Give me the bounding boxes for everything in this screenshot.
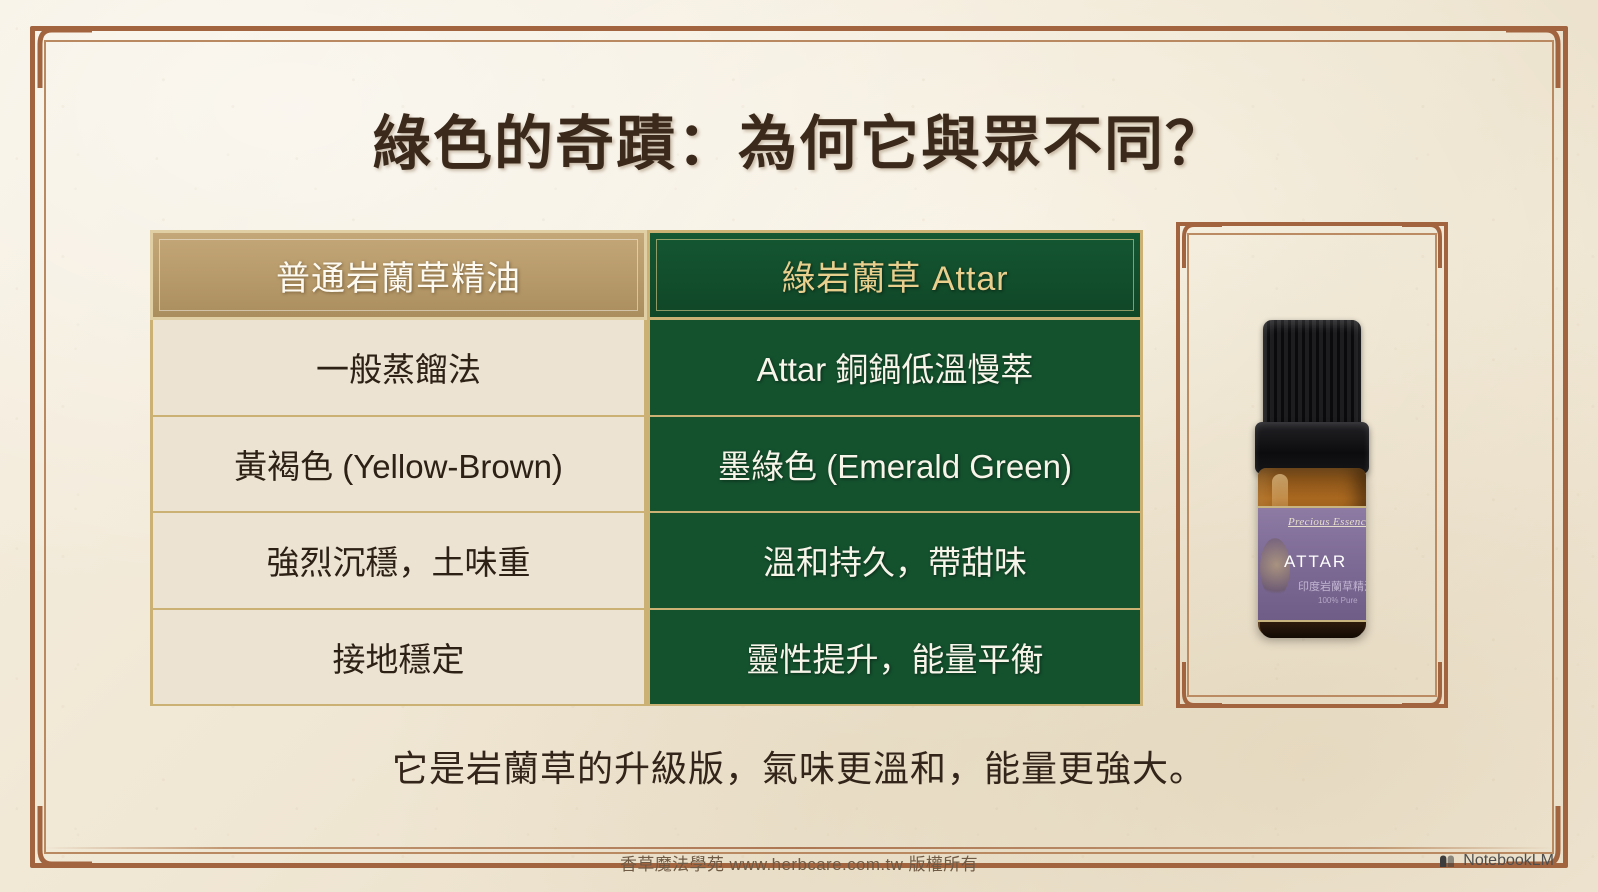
product-image-panel: Precious Essence ATTAR 印度岩蘭草精油 100% Pure bbox=[1176, 222, 1448, 708]
table-header-ordinary: 普通岩蘭草精油 bbox=[150, 230, 647, 320]
bottle-cap-icon bbox=[1263, 320, 1361, 428]
table-row: 接地穩定 bbox=[150, 610, 647, 707]
frame-corner-top-left-icon bbox=[30, 26, 92, 88]
bottle-cap-ring bbox=[1255, 422, 1369, 474]
bottle-base bbox=[1260, 622, 1364, 638]
table-row: 黃褐色 (Yellow-Brown) bbox=[150, 417, 647, 514]
table-header-ordinary-label: 普通岩蘭草精油 bbox=[159, 239, 638, 311]
table-row: 靈性提升，能量平衡 bbox=[647, 610, 1143, 707]
slide-root: 綠色的奇蹟：為何它與眾不同？ 普通岩蘭草精油 一般蒸餾法 黃褐色 (Yellow… bbox=[0, 0, 1598, 892]
frame-corner-top-right-icon bbox=[1506, 26, 1568, 88]
table-row: 強烈沉穩，土味重 bbox=[150, 513, 647, 610]
comparison-table: 普通岩蘭草精油 一般蒸餾法 黃褐色 (Yellow-Brown) 強烈沉穩，土味… bbox=[150, 230, 1143, 706]
table-column-ordinary: 普通岩蘭草精油 一般蒸餾法 黃褐色 (Yellow-Brown) 強烈沉穩，土味… bbox=[150, 230, 647, 706]
table-header-attar: 綠岩蘭草 Attar bbox=[647, 230, 1143, 320]
bottle-label-chinese: 印度岩蘭草精油 bbox=[1298, 578, 1366, 594]
table-row: Attar 銅鍋低溫慢萃 bbox=[647, 320, 1143, 417]
product-corner-bottom-right-icon bbox=[1402, 662, 1448, 708]
table-header-attar-label: 綠岩蘭草 Attar bbox=[656, 239, 1134, 311]
bottle-label-subtext: 100% Pure bbox=[1318, 596, 1358, 605]
product-corner-bottom-left-icon bbox=[1176, 662, 1222, 708]
page-title: 綠色的奇蹟：為何它與眾不同？ bbox=[0, 96, 1598, 181]
product-corner-top-right-icon bbox=[1402, 222, 1448, 268]
footer-divider bbox=[44, 847, 1554, 849]
table-row: 墨綠色 (Emerald Green) bbox=[647, 417, 1143, 514]
table-row: 溫和持久，帶甜味 bbox=[647, 513, 1143, 610]
product-corner-top-left-icon bbox=[1176, 222, 1222, 268]
essential-oil-bottle-image: Precious Essence ATTAR 印度岩蘭草精油 100% Pure bbox=[1236, 310, 1388, 640]
table-column-attar: 綠岩蘭草 Attar Attar 銅鍋低溫慢萃 墨綠色 (Emerald Gre… bbox=[647, 230, 1143, 706]
bottle-label-script: Precious Essence bbox=[1288, 516, 1366, 528]
bottle-label: Precious Essence ATTAR 印度岩蘭草精油 100% Pure bbox=[1258, 506, 1366, 622]
notebooklm-label: NotebookLM bbox=[1463, 852, 1554, 870]
bottle-label-name: ATTAR bbox=[1284, 552, 1347, 572]
notebooklm-icon bbox=[1438, 854, 1457, 869]
footer-credit: 香草魔法學苑 www.herbcare.com.tw 版權所有 bbox=[0, 850, 1598, 875]
summary-caption: 它是岩蘭草的升級版，氣味更溫和，能量更強大。 bbox=[0, 740, 1598, 792]
table-row: 一般蒸餾法 bbox=[150, 320, 647, 417]
notebooklm-branding: NotebookLM bbox=[1438, 852, 1554, 870]
